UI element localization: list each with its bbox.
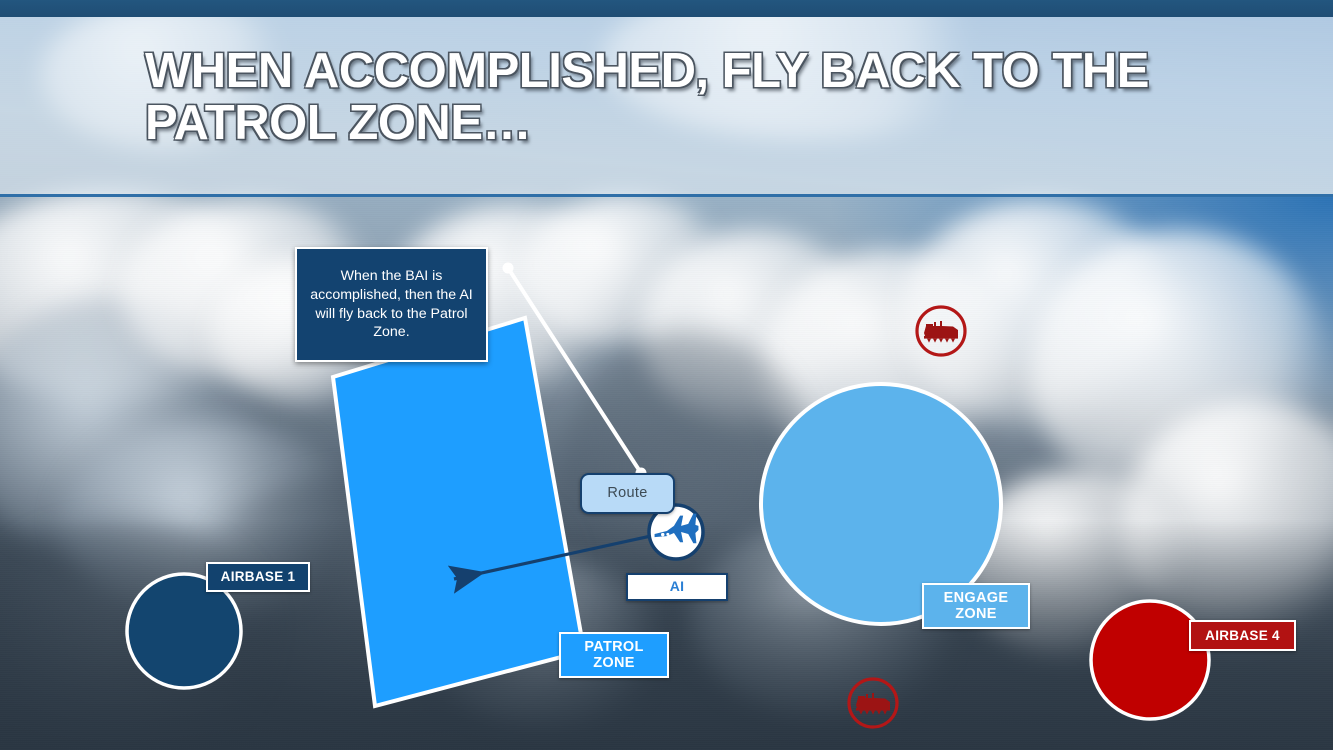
slide-canvas: When the BAI is accomplished, then the A…	[0, 0, 1333, 750]
label-ai-text: AI	[670, 579, 685, 595]
label-route[interactable]: Route	[580, 473, 675, 514]
hostile-ground-unit-icon[interactable]	[913, 303, 969, 359]
callout-box[interactable]: When the BAI is accomplished, then the A…	[295, 247, 488, 362]
label-engage-zone[interactable]: ENGAGE ZONE	[922, 583, 1030, 629]
label-patrol-zone-line2: ZONE	[593, 655, 634, 671]
route-leader-dot-start	[503, 263, 514, 274]
label-patrol-zone-line1: PATROL	[584, 639, 643, 655]
title-band-inner: WHEN ACCOMPLISHED, FLY BACK TO THE PATRO…	[0, 17, 1333, 197]
airbase4-circle[interactable]	[1091, 601, 1209, 719]
label-route-text: Route	[607, 485, 647, 501]
label-airbase-4-text: AIRBASE 4	[1205, 628, 1280, 643]
callout-text: When the BAI is accomplished, then the A…	[305, 267, 478, 343]
label-patrol-zone[interactable]: PATROL ZONE	[559, 632, 669, 678]
hostile-ground-unit-icon[interactable]	[845, 675, 901, 731]
label-airbase-1-text: AIRBASE 1	[221, 569, 296, 584]
page-title: WHEN ACCOMPLISHED, FLY BACK TO THE PATRO…	[145, 45, 1225, 150]
label-engage-zone-line2: ZONE	[955, 606, 996, 622]
label-airbase-1[interactable]: AIRBASE 1	[206, 562, 310, 592]
label-airbase-4[interactable]: AIRBASE 4	[1189, 620, 1296, 651]
top-accent-bar	[0, 0, 1333, 17]
patrol-zone-polygon[interactable]	[333, 318, 584, 706]
label-ai[interactable]: AI	[626, 573, 728, 601]
label-engage-zone-line1: ENGAGE	[944, 590, 1009, 606]
